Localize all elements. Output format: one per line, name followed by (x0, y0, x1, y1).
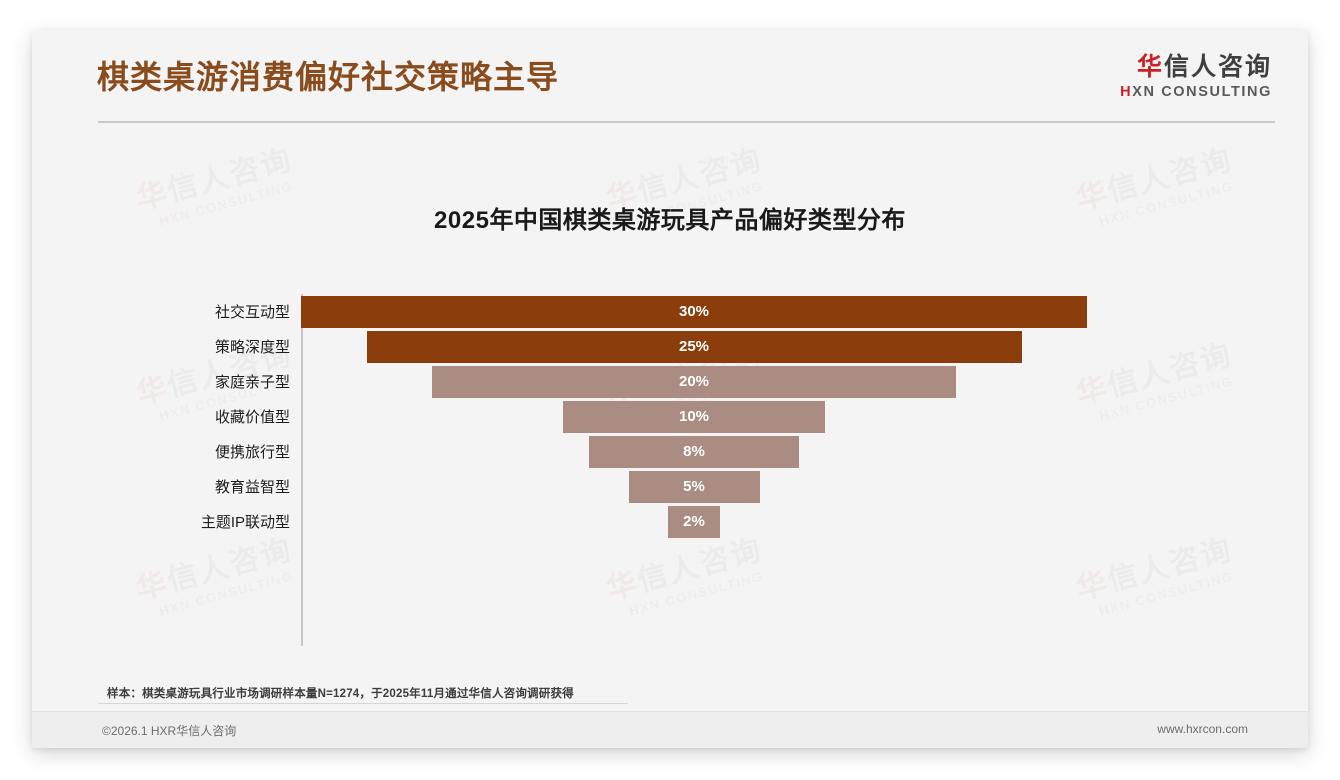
chart-bar[interactable]: 20% (432, 366, 956, 398)
slide-header: 棋类桌游消费偏好社交策略主导 华信人咨询 HXN CONSULTING (32, 30, 1308, 122)
chart-bar-row: 策略深度型25% (32, 330, 1308, 365)
chart-bar[interactable]: 10% (563, 401, 825, 433)
header-divider (98, 121, 1275, 123)
chart-bar-row: 教育益智型5% (32, 470, 1308, 505)
chart-bar[interactable]: 8% (589, 436, 799, 468)
slide-footer: ©2026.1 HXR华信人咨询 www.hxrcon.com (32, 711, 1308, 748)
slide-card: 华信人咨询HXN CONSULTING华信人咨询HXN CONSULTING华信… (32, 30, 1308, 748)
bar-category-label: 主题IP联动型 (32, 505, 290, 540)
bar-category-label: 社交互动型 (32, 295, 290, 330)
chart-bar-row: 家庭亲子型20% (32, 365, 1308, 400)
bar-category-label: 收藏价值型 (32, 400, 290, 435)
logo-en-red-char: H (1120, 84, 1132, 100)
chart-bar[interactable]: 25% (367, 331, 1022, 363)
copyright-text: ©2026.1 HXR华信人咨询 (102, 722, 236, 739)
chart-bar[interactable]: 5% (629, 471, 760, 503)
bar-value-label: 25% (679, 338, 709, 355)
page-title: 棋类桌游消费偏好社交策略主导 (97, 52, 559, 98)
chart-title: 2025年中国棋类桌游玩具产品偏好类型分布 (32, 200, 1308, 235)
company-logo: 华信人咨询 HXN CONSULTING (1120, 54, 1272, 100)
bar-category-label: 家庭亲子型 (32, 365, 290, 400)
bar-value-label: 2% (683, 513, 705, 530)
chart-bar-row: 社交互动型30% (32, 295, 1308, 330)
bar-value-label: 20% (679, 373, 709, 390)
bar-category-label: 策略深度型 (32, 330, 290, 365)
chart-bar-row: 收藏价值型10% (32, 400, 1308, 435)
bar-value-label: 5% (683, 478, 705, 495)
bar-category-label: 教育益智型 (32, 470, 290, 505)
source-footnote: 样本：棋类桌游玩具行业市场调研样本量N=1274，于2025年11月通过华信人咨… (107, 685, 574, 701)
chart-bar[interactable]: 2% (668, 506, 720, 538)
chart-bar[interactable]: 30% (301, 296, 1087, 328)
logo-english-text: HXN CONSULTING (1120, 84, 1272, 100)
logo-cn-red-char: 华 (1137, 53, 1164, 81)
logo-en-rest: XN CONSULTING (1132, 84, 1272, 100)
footnote-divider (98, 703, 628, 704)
bar-value-label: 30% (679, 303, 709, 320)
chart-bar-row: 主题IP联动型2% (32, 505, 1308, 540)
funnel-bar-chart: 社交互动型30%策略深度型25%家庭亲子型20%收藏价值型10%便携旅行型8%教… (32, 266, 1308, 626)
bar-value-label: 10% (679, 408, 709, 425)
website-link[interactable]: www.hxrcon.com (1157, 722, 1248, 736)
bar-category-label: 便携旅行型 (32, 435, 290, 470)
logo-cn-rest: 信人咨询 (1164, 53, 1272, 81)
chart-bar-row: 便携旅行型8% (32, 435, 1308, 470)
logo-chinese-text: 华信人咨询 (1120, 54, 1272, 81)
bar-value-label: 8% (683, 443, 705, 460)
